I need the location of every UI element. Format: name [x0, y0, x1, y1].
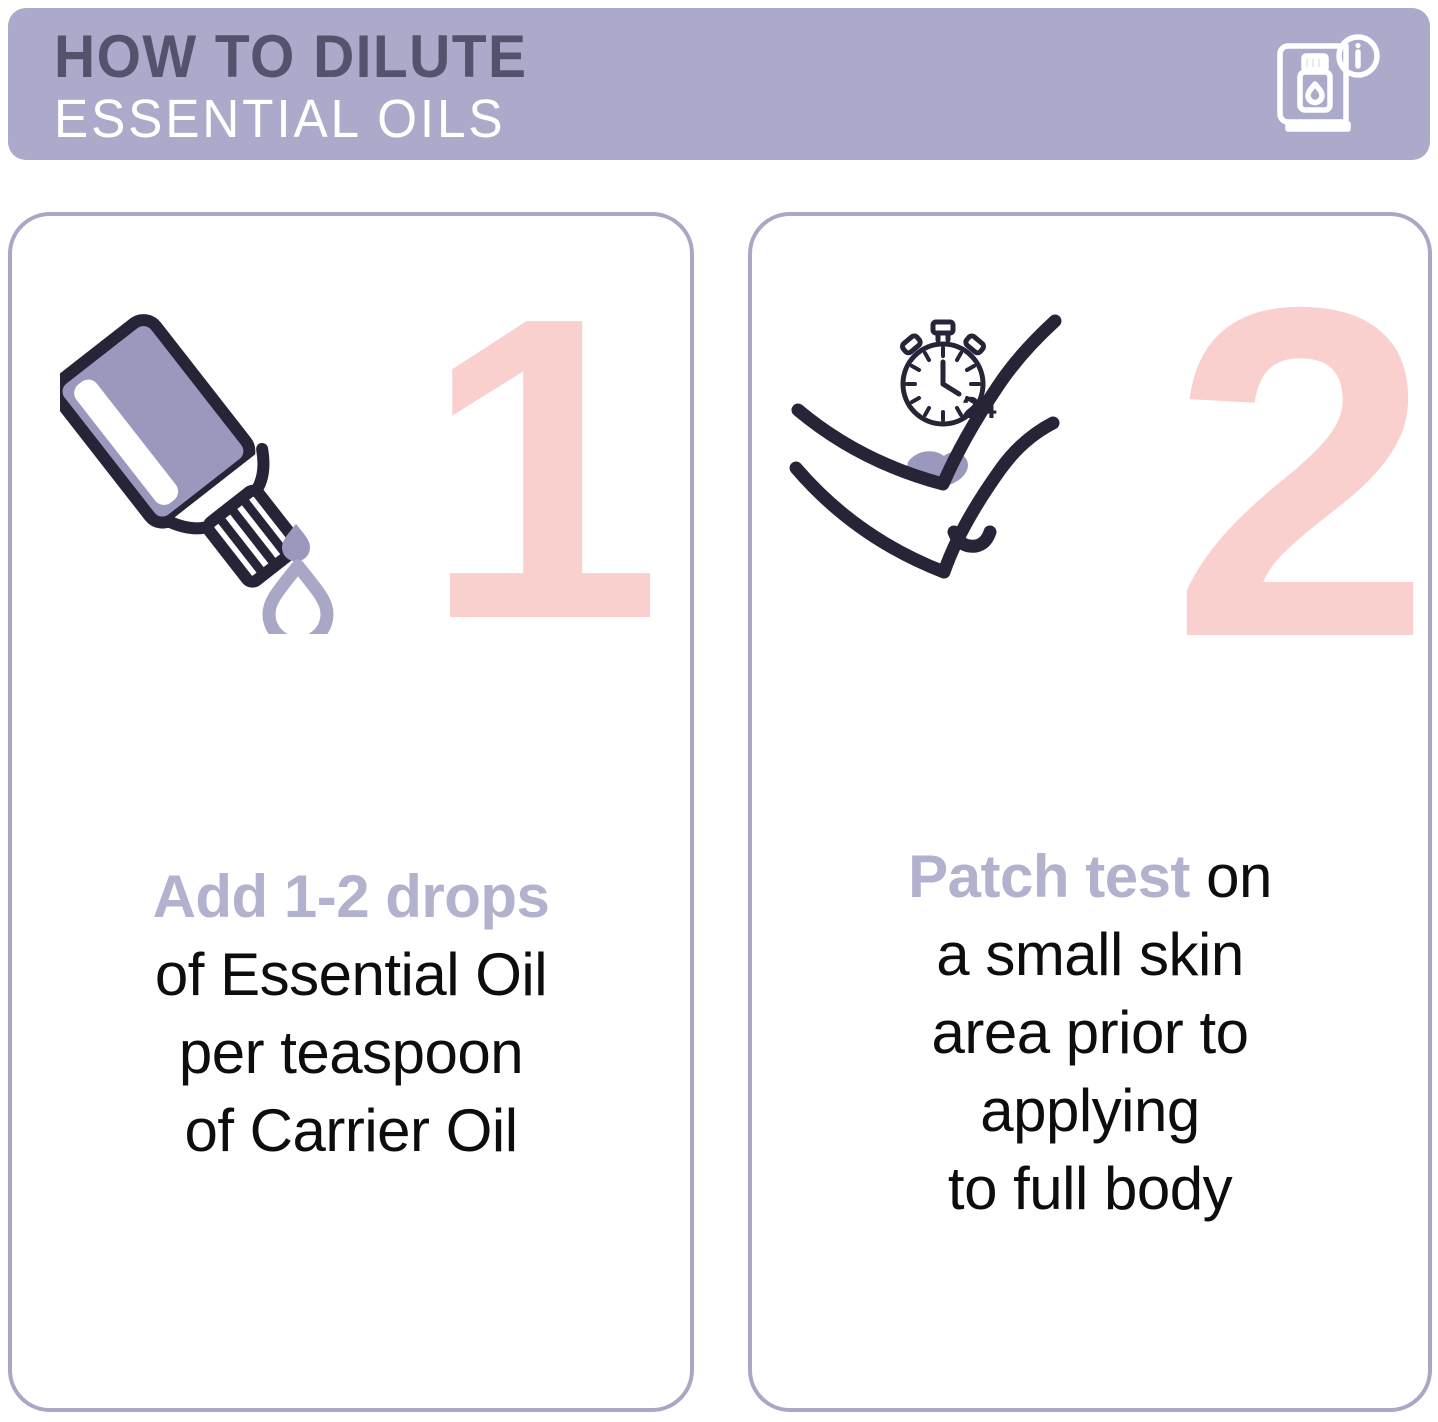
step-1-line-1: Add 1-2 drops — [34, 858, 668, 936]
stopwatch-hours-label: 24 — [962, 390, 997, 425]
step-2-highlight: Patch test — [908, 843, 1190, 910]
page-subtitle: ESSENTIAL OILS — [54, 91, 527, 148]
step-card-1: 1 — [8, 212, 694, 1412]
step-2-line-2: a small skin — [774, 916, 1406, 994]
step-card-2: 2 — [748, 212, 1432, 1412]
step-1-line-3: per teaspoon — [34, 1014, 668, 1092]
page-title: HOW TO DILUTE — [54, 26, 527, 87]
step-1-line-2: of Essential Oil — [34, 936, 668, 1014]
step-1-highlight: Add 1-2 drops — [153, 863, 550, 930]
oil-bottle-manual-info-icon — [1272, 30, 1384, 138]
step-2-line-5: to full body — [774, 1150, 1406, 1228]
header-banner: HOW TO DILUTE ESSENTIAL OILS — [8, 8, 1430, 160]
steps-container: 1 — [0, 212, 1438, 1418]
step-2-line-3: area prior to — [774, 994, 1406, 1072]
step-2-line-1: Patch test on — [774, 838, 1406, 916]
step-2-visual: 2 — [752, 216, 1428, 856]
step-2-line-1-rest: on — [1190, 843, 1272, 910]
step-number-2: 2 — [1171, 238, 1420, 708]
step-1-visual: 1 — [12, 216, 690, 856]
header-text-block: HOW TO DILUTE ESSENTIAL OILS — [54, 26, 552, 148]
dropper-bottle-with-drops-icon — [60, 294, 360, 634]
step-2-line-4: applying — [774, 1072, 1406, 1150]
step-number-1: 1 — [423, 254, 652, 684]
arm-patch-test-stopwatch-icon: 24 — [780, 304, 1130, 609]
step-1-text: Add 1-2 drops of Essential Oil per teasp… — [12, 858, 690, 1170]
step-2-text: Patch test on a small skin area prior to… — [752, 838, 1428, 1228]
step-1-line-4: of Carrier Oil — [34, 1092, 668, 1170]
